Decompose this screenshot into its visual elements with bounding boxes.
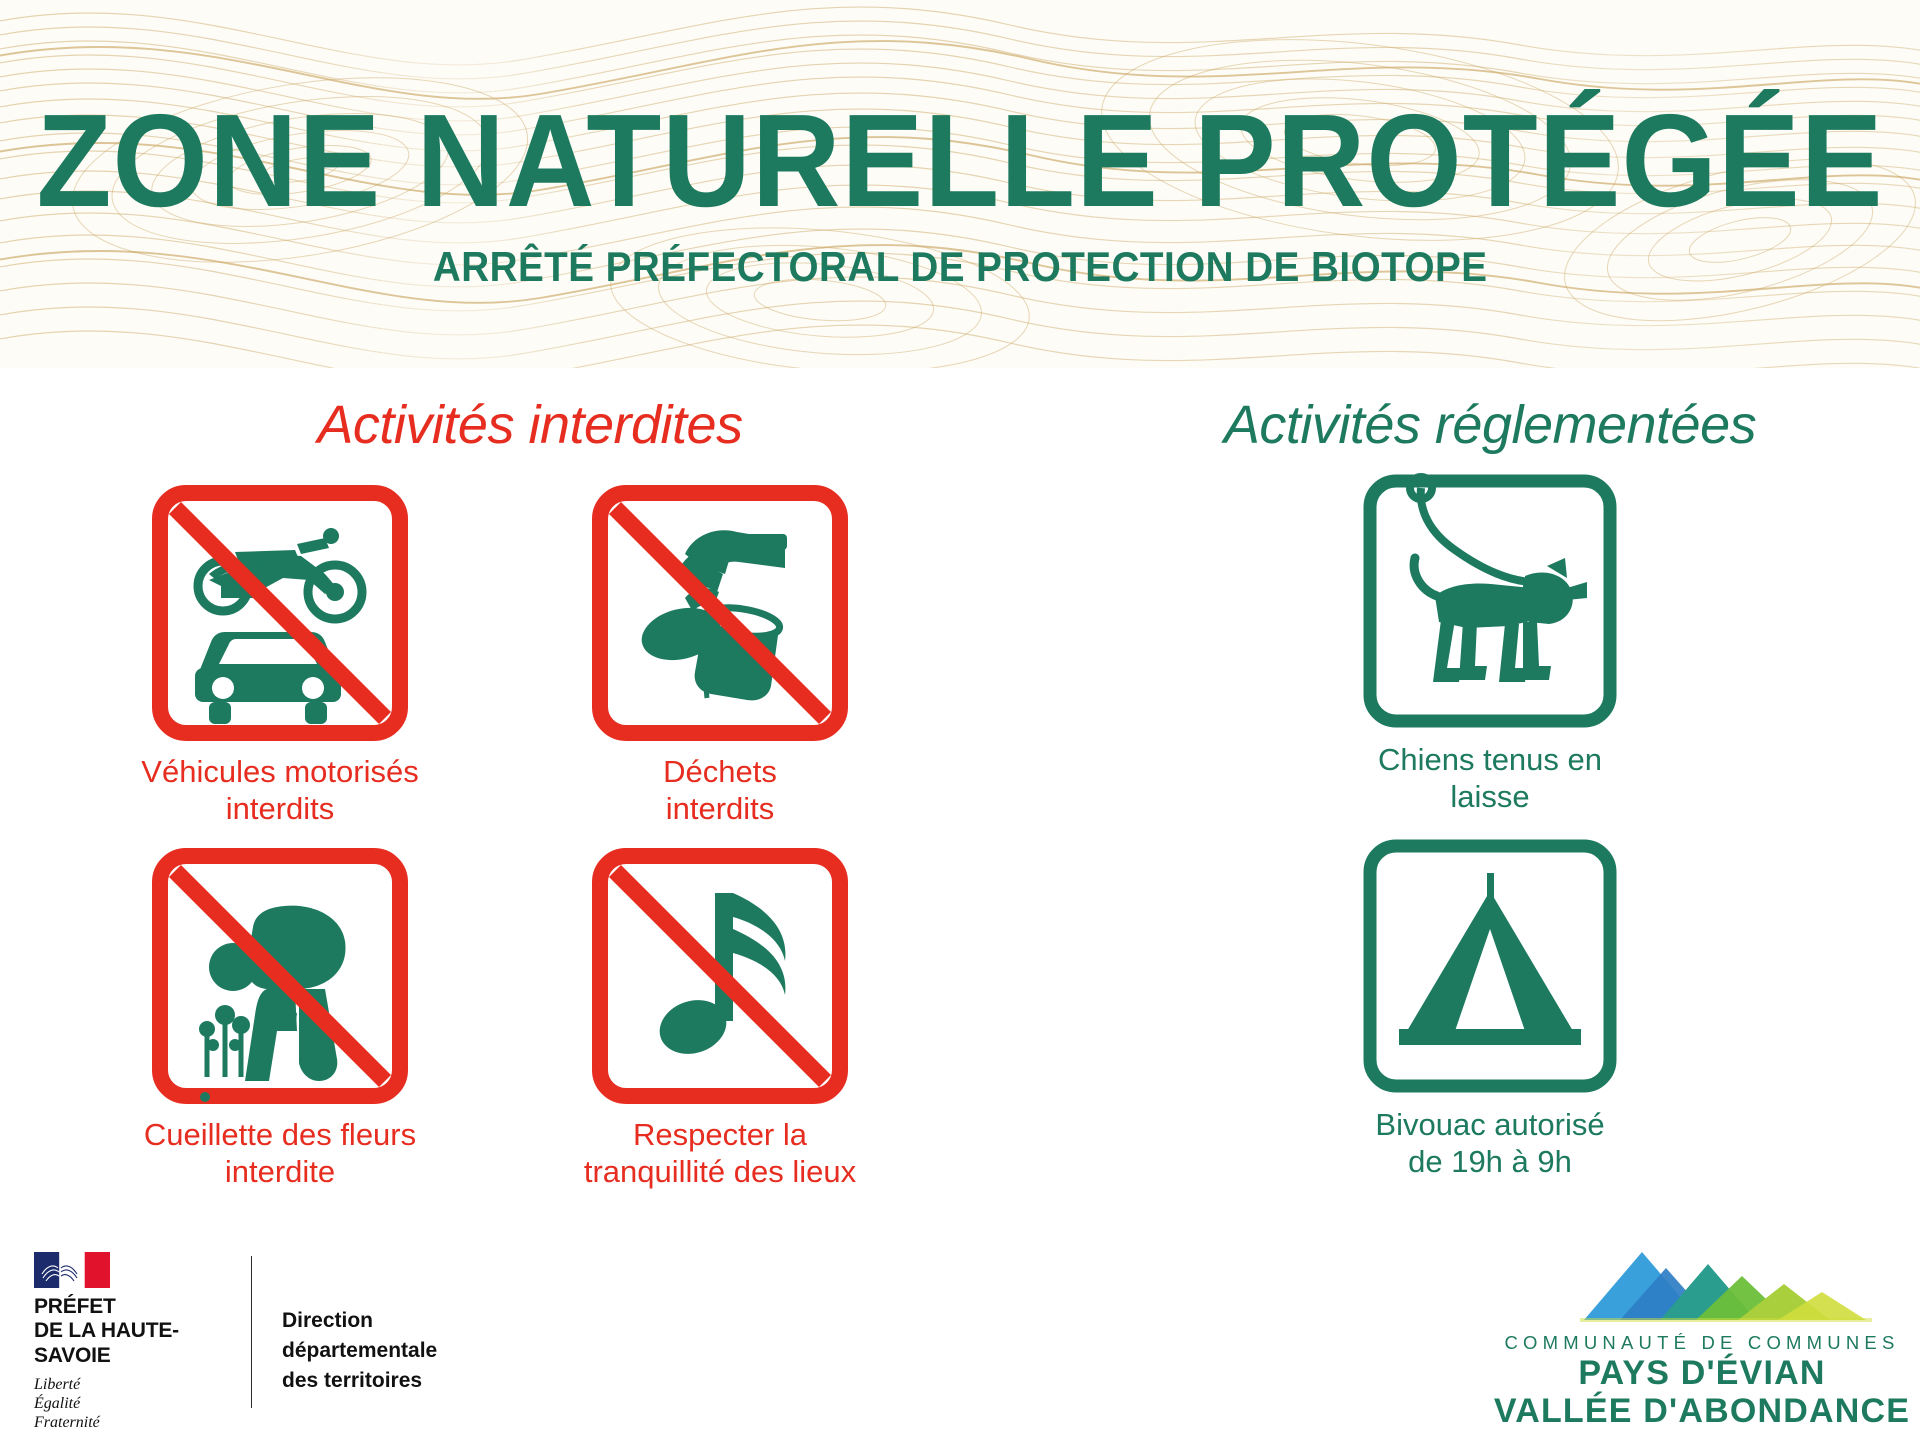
- marianne-french-flag-icon: [34, 1252, 110, 1288]
- regulated-section-heading: Activités réglementées: [1060, 368, 1920, 456]
- regulated-item: Chiens tenus en laisse: [1359, 470, 1621, 815]
- republic-motto: Liberté Égalité Fraternité: [34, 1375, 229, 1433]
- community-tagline: COMMUNAUTÉ DE COMMUNES: [1492, 1332, 1912, 1354]
- logo-divider: [251, 1256, 252, 1408]
- icon-caption: Chiens tenus en laisse: [1378, 742, 1602, 815]
- icon-caption: Bivouac autorisé de 19h à 9h: [1375, 1107, 1604, 1180]
- forbidden-item: Véhicules motorisés interdits: [60, 482, 500, 827]
- forbidden-icon-grid: Véhicules motorisés interdits: [0, 482, 1060, 1190]
- prefecture-logo-block: PRÉFET DE LA HAUTE- SAVOIE Liberté Égali…: [34, 1252, 437, 1433]
- no-noise-icon: [589, 845, 851, 1107]
- no-motor-vehicles-icon: [149, 482, 411, 744]
- bivouac-tent-icon: [1359, 835, 1621, 1097]
- icon-caption: Véhicules motorisés interdits: [141, 754, 418, 827]
- regulated-icon-grid: Chiens tenus en laisse Bivouac: [1060, 470, 1920, 1180]
- community-logo-block: COMMUNAUTÉ DE COMMUNES PAYS D'ÉVIAN VALL…: [1492, 1246, 1912, 1430]
- forbidden-section-heading: Activités interdites: [0, 368, 1060, 456]
- forbidden-item: Déchets interdits: [500, 482, 940, 827]
- forbidden-item: Respecter la tranquillité des lieux: [500, 845, 940, 1190]
- community-name: PAYS D'ÉVIAN VALLÉE D'ABONDANCE: [1492, 1354, 1912, 1430]
- forbidden-activities-section: Activités interdites: [0, 368, 1060, 1228]
- poster-body: Activités interdites: [0, 368, 1920, 1228]
- poster-header: ZONE NATURELLE PROTÉGÉE ARRÊTÉ PRÉFECTOR…: [0, 0, 1920, 368]
- regulated-activities-section: Activités réglementées: [1060, 368, 1920, 1228]
- no-litter-icon: [589, 482, 851, 744]
- icon-caption: Cueillette des fleurs interdite: [144, 1117, 416, 1190]
- prefecture-name: PRÉFET DE LA HAUTE- SAVOIE: [34, 1295, 229, 1368]
- regulated-item: Bivouac autorisé de 19h à 9h: [1359, 835, 1621, 1180]
- poster-footer: PRÉFET DE LA HAUTE- SAVOIE Liberté Égali…: [0, 1228, 1920, 1440]
- page-subtitle: ARRÊTÉ PRÉFECTORAL DE PROTECTION DE BIOT…: [433, 243, 1488, 291]
- icon-caption: Respecter la tranquillité des lieux: [584, 1117, 856, 1190]
- icon-caption: Déchets interdits: [663, 754, 777, 827]
- mountains-logo-icon: [1492, 1246, 1912, 1338]
- dog-on-leash-icon: [1359, 470, 1621, 732]
- page-title: ZONE NATURELLE PROTÉGÉE: [37, 95, 1884, 227]
- no-flower-picking-icon: [149, 845, 411, 1107]
- forbidden-item: Cueillette des fleurs interdite: [60, 845, 500, 1190]
- department-service-name: Direction départementale des territoires: [282, 1252, 437, 1395]
